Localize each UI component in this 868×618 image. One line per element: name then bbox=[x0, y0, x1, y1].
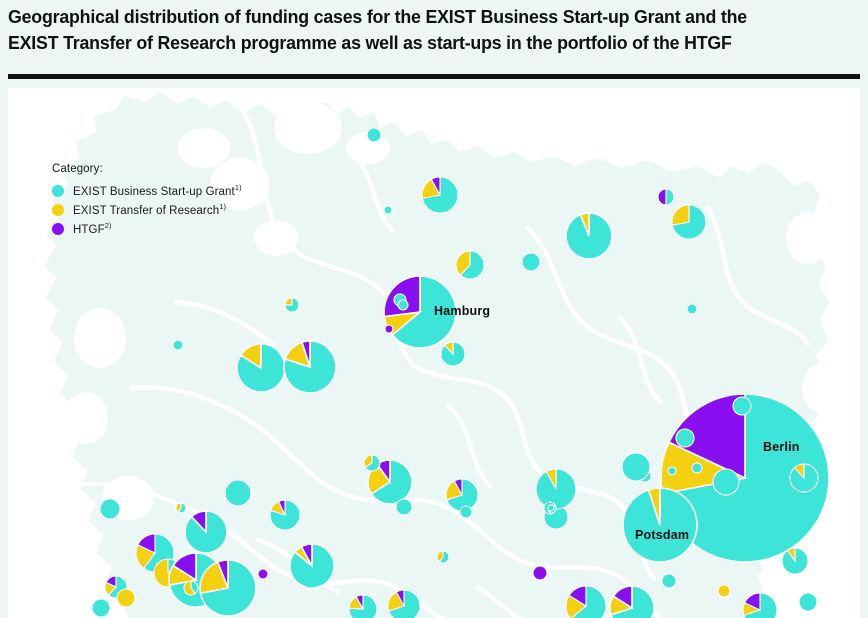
pie-marker-city-n17[interactable] bbox=[790, 464, 818, 492]
city-label-berlin: Berlin bbox=[763, 440, 800, 454]
pie-slice-exist-business-start-up-grant bbox=[367, 128, 381, 142]
pie-marker-city-n58[interactable] bbox=[799, 593, 817, 611]
pie-marker-city-n23[interactable] bbox=[285, 298, 299, 312]
pie-marker-city-n53[interactable] bbox=[388, 590, 420, 618]
city-label-hamburg: Hamburg bbox=[434, 304, 490, 318]
pie-marker-city-n01[interactable] bbox=[367, 128, 381, 142]
pie-slice-exist-business-start-up-grant bbox=[733, 397, 751, 415]
header: Geographical distribution of funding cas… bbox=[0, 0, 868, 56]
pie-marker-city-n21[interactable] bbox=[398, 300, 408, 310]
pie-slice-exist-business-start-up-grant bbox=[692, 463, 702, 473]
legend-title: Category: bbox=[52, 163, 242, 175]
pie-marker-city-n37[interactable] bbox=[446, 479, 478, 511]
pie-slice-exist-business-start-up-grant bbox=[676, 429, 694, 447]
pie-slice-htgf bbox=[385, 325, 393, 333]
legend-swatch-exist-business-startup-grant bbox=[52, 185, 64, 197]
pie-marker-city-n52[interactable] bbox=[349, 595, 377, 618]
pie-marker-city-n04[interactable] bbox=[456, 251, 484, 279]
legend-item-htgf[interactable]: HTGF2) bbox=[52, 219, 242, 238]
map-cutout-5 bbox=[74, 308, 126, 368]
map-cutout-0 bbox=[274, 102, 342, 154]
map-cutout-6 bbox=[64, 392, 108, 444]
pie-slice-exist-business-start-up-grant bbox=[522, 253, 540, 271]
pie-marker-city-n08[interactable] bbox=[672, 205, 706, 239]
pie-marker-city-n26[interactable] bbox=[284, 341, 336, 393]
pie-marker-city-n43[interactable] bbox=[548, 505, 554, 511]
pie-slice-exist-business-start-up-grant bbox=[548, 505, 554, 511]
infographic-page: Geographical distribution of funding cas… bbox=[0, 0, 868, 618]
pie-slice-exist-transfer-of-research bbox=[718, 585, 730, 597]
pie-marker-city-n60[interactable] bbox=[662, 574, 676, 588]
pie-slice-exist-transfer-of-research bbox=[117, 589, 135, 607]
pie-marker-city-n10[interactable] bbox=[733, 397, 751, 415]
pie-marker-city-n15[interactable] bbox=[622, 453, 650, 481]
pie-slice-exist-business-start-up-grant bbox=[92, 599, 110, 617]
legend-label-exist-business-startup-grant: EXIST Business Start-up Grant1) bbox=[73, 183, 242, 198]
pie-slice-exist-business-start-up-grant bbox=[100, 499, 120, 519]
pie-marker-city-n36[interactable] bbox=[437, 551, 449, 563]
pie-marker-city-n16[interactable] bbox=[713, 469, 739, 495]
pie-marker-city-n05[interactable] bbox=[522, 253, 540, 271]
pie-marker-potsdam[interactable] bbox=[623, 488, 697, 562]
pie-slice-exist-business-start-up-grant bbox=[622, 453, 650, 481]
pie-slice-exist-business-start-up-grant bbox=[662, 574, 676, 588]
map-cutout-9 bbox=[802, 364, 842, 412]
pie-slice-htgf bbox=[533, 566, 547, 580]
legend-label-htgf: HTGF2) bbox=[73, 221, 112, 236]
pie-marker-city-n18[interactable] bbox=[782, 548, 808, 574]
legend-swatch-htgf bbox=[52, 223, 64, 235]
pie-marker-city-n22[interactable] bbox=[441, 342, 465, 366]
pie-slice-exist-business-start-up-grant bbox=[398, 300, 408, 310]
map-cutout-2 bbox=[254, 220, 298, 256]
pie-marker-city-n40[interactable] bbox=[536, 469, 576, 509]
pie-marker-city-n24[interactable] bbox=[173, 340, 183, 350]
map-cutout-8 bbox=[786, 212, 830, 264]
pie-marker-city-n51[interactable] bbox=[92, 599, 110, 617]
pie-marker-city-n34[interactable] bbox=[364, 455, 380, 471]
legend-note-exist-business-startup-grant: 1) bbox=[235, 183, 242, 192]
pie-slice-exist-business-start-up-grant bbox=[173, 340, 183, 350]
pie-marker-city-n07[interactable] bbox=[658, 189, 674, 205]
pie-slice-exist-business-start-up-grant bbox=[799, 593, 817, 611]
pie-marker-city-n20[interactable] bbox=[385, 325, 393, 333]
pie-marker-city-n47[interactable] bbox=[184, 581, 198, 595]
page-title-line-2: EXIST Transfer of Research programme as … bbox=[8, 30, 824, 56]
pie-slice-exist-business-start-up-grant bbox=[384, 206, 392, 214]
legend-note-exist-transfer-of-research: 1) bbox=[219, 202, 226, 211]
title-divider bbox=[8, 74, 860, 79]
pie-marker-city-n29[interactable] bbox=[176, 503, 186, 513]
pie-marker-city-n49[interactable] bbox=[117, 589, 135, 607]
pie-slice-exist-business-start-up-grant bbox=[225, 480, 251, 506]
legend-item-exist-business-startup-grant[interactable]: EXIST Business Start-up Grant1) bbox=[52, 181, 242, 200]
pie-marker-city-n09[interactable] bbox=[687, 304, 697, 314]
pie-marker-city-n50[interactable] bbox=[200, 560, 256, 616]
pie-slice-exist-business-start-up-grant bbox=[713, 469, 739, 495]
city-label-potsdam: Potsdam bbox=[635, 528, 689, 542]
pie-slice-htgf bbox=[258, 569, 268, 579]
pie-marker-city-n02[interactable] bbox=[384, 206, 392, 214]
pie-marker-city-n28[interactable] bbox=[185, 511, 227, 553]
pie-marker-city-n59[interactable] bbox=[533, 566, 547, 580]
pie-marker-city-n30[interactable] bbox=[270, 500, 300, 530]
pie-slice-exist-business-start-up-grant bbox=[460, 506, 472, 518]
page-title-line-1: Geographical distribution of funding cas… bbox=[8, 4, 824, 30]
pie-marker-city-n13[interactable] bbox=[668, 467, 676, 475]
pie-slice-exist-business-start-up-grant bbox=[687, 304, 697, 314]
map-cutout-3 bbox=[178, 128, 230, 168]
legend-item-exist-transfer-of-research[interactable]: EXIST Transfer of Research1) bbox=[52, 200, 242, 219]
pie-marker-city-n35[interactable] bbox=[396, 499, 412, 515]
legend-swatch-exist-transfer-of-research bbox=[52, 204, 64, 216]
pie-marker-city-n27[interactable] bbox=[225, 480, 251, 506]
legend-label-exist-transfer-of-research: EXIST Transfer of Research1) bbox=[73, 202, 226, 217]
pie-marker-city-n38[interactable] bbox=[460, 506, 472, 518]
pie-marker-city-n03[interactable] bbox=[422, 177, 458, 213]
pie-marker-city-n31[interactable] bbox=[290, 544, 334, 588]
pie-marker-city-n11[interactable] bbox=[676, 429, 694, 447]
legend: Category: EXIST Business Start-up Grant1… bbox=[52, 163, 242, 238]
legend-note-htgf: 2) bbox=[105, 221, 112, 230]
legend-rows: EXIST Business Start-up Grant1)EXIST Tra… bbox=[52, 181, 242, 238]
pie-marker-city-n25[interactable] bbox=[237, 344, 285, 392]
pie-slice-exist-business-start-up-grant bbox=[396, 499, 412, 515]
pie-marker-city-n57[interactable] bbox=[718, 585, 730, 597]
pie-slice-exist-business-start-up-grant bbox=[668, 467, 676, 475]
pie-marker-city-n61[interactable] bbox=[100, 499, 120, 519]
pie-marker-city-n32[interactable] bbox=[258, 569, 268, 579]
pie-marker-city-n06[interactable] bbox=[566, 213, 612, 259]
pie-marker-city-n12[interactable] bbox=[692, 463, 702, 473]
